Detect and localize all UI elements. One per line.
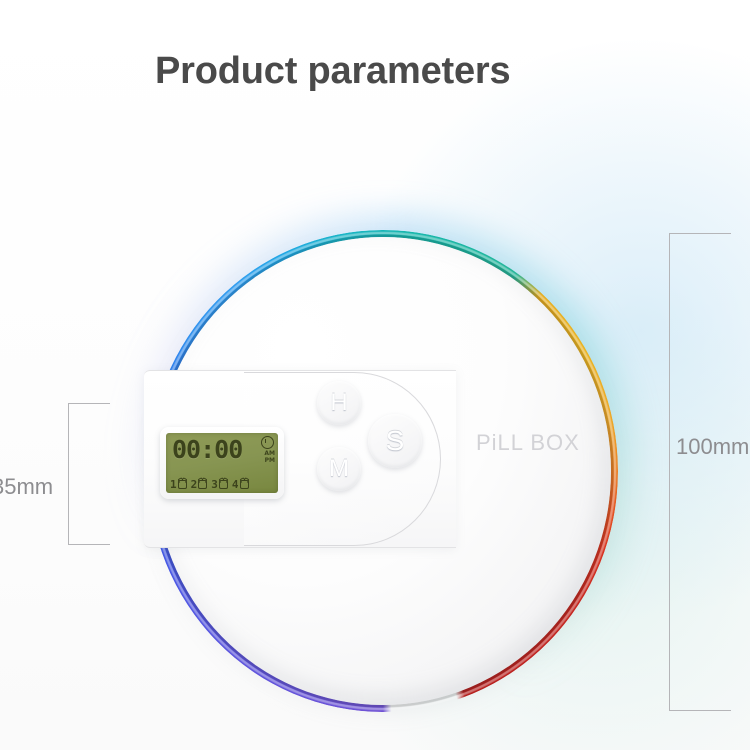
dimension-line-height-vertical	[669, 233, 670, 711]
lcd-pm-label: PM	[264, 457, 275, 464]
pill-box-device: 00:00 AM PM 1 2 3	[148, 230, 618, 712]
lcd-alarm-slots: 1 2 3 4	[170, 479, 249, 490]
dimension-tick-height-top	[669, 233, 731, 234]
dimension-line-thickness-vertical	[68, 403, 69, 545]
alarm-slot: 2	[191, 479, 208, 490]
product-parameters-page: Product parameters 00:00 AM PM 1	[0, 0, 750, 750]
lcd-time-value: 00:00	[172, 437, 242, 462]
alarm-bell-icon	[198, 480, 207, 489]
alarm-slot-number: 1	[170, 479, 177, 490]
minute-button[interactable]: M	[317, 447, 361, 491]
hour-button[interactable]: H	[317, 381, 361, 425]
lcd-am-label: AM	[264, 450, 275, 457]
alarm-bell-icon	[240, 480, 249, 489]
lcd-screen: 00:00 AM PM 1 2 3	[166, 433, 278, 493]
alarm-bell-icon	[219, 480, 228, 489]
alarm-bell-icon	[178, 480, 187, 489]
dimension-tick-thickness-bottom	[68, 544, 110, 545]
alarm-slot: 4	[232, 479, 249, 490]
page-title: Product parameters	[155, 50, 510, 93]
brand-label: PiLL BOX	[476, 430, 580, 456]
lcd-display-frame: 00:00 AM PM 1 2 3	[160, 427, 284, 499]
dimension-label-thickness: 35mm	[0, 474, 53, 500]
alarm-slot-number: 4	[232, 479, 239, 490]
alarm-slot: 1	[170, 479, 187, 490]
clock-icon	[261, 436, 274, 449]
set-button[interactable]: S	[368, 414, 422, 468]
dimension-tick-thickness-top	[68, 403, 110, 404]
alarm-slot-number: 3	[211, 479, 218, 490]
lcd-ampm-indicator: AM PM	[264, 450, 275, 464]
dimension-label-height: 100mm	[676, 434, 749, 460]
dimension-tick-height-bottom	[669, 710, 731, 711]
alarm-slot: 3	[211, 479, 228, 490]
alarm-slot-number: 2	[191, 479, 198, 490]
